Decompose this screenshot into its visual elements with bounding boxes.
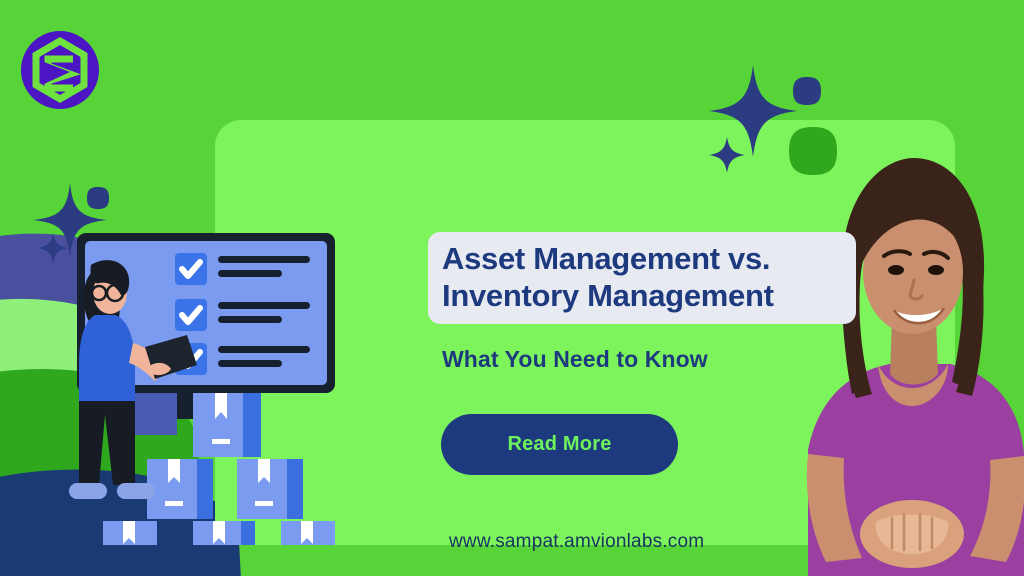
subtitle: What You Need to Know (442, 346, 708, 373)
sampat-hexagon-s-logo-icon (18, 28, 102, 112)
website-url[interactable]: www.sampat.amvionlabs.com (449, 531, 704, 553)
read-more-button[interactable]: Read More (441, 414, 678, 475)
headline-line-1: Asset Management vs. (442, 240, 842, 277)
brand-logo[interactable] (18, 28, 102, 112)
smiling-woman-photo (800, 150, 1024, 576)
inventory-checklist-illustration (55, 215, 375, 545)
headline-line-2: Inventory Management (442, 277, 842, 314)
promo-banner: Asset Management vs. Inventory Managemen… (0, 0, 1024, 576)
headline-box: Asset Management vs. Inventory Managemen… (428, 232, 856, 324)
